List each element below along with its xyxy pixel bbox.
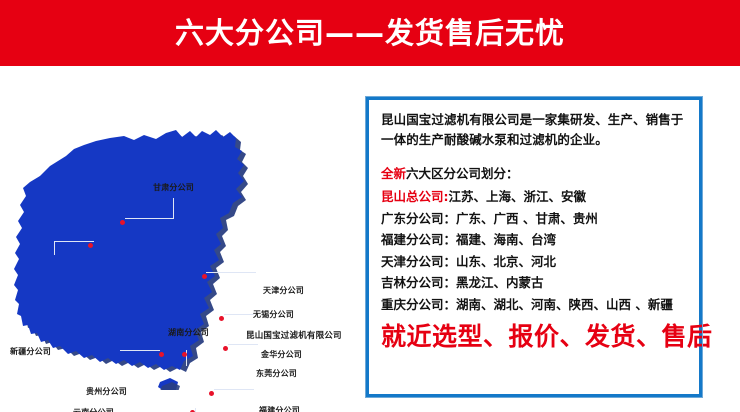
leader-line xyxy=(125,218,173,219)
branch-name: 广东分公司： xyxy=(381,211,456,226)
leader-line xyxy=(54,241,55,255)
map-label-8: 新疆分公司 xyxy=(10,348,51,356)
map-marker-dot xyxy=(88,243,93,248)
leader-line xyxy=(224,314,254,315)
map-marker-dot xyxy=(209,391,214,396)
branch-regions: 江苏、上海、浙江、安徽 xyxy=(449,189,587,204)
branch-regions: 湖南、湖北、河南、陕西、山西 、新疆 xyxy=(456,297,673,312)
section-heading-highlight: 全新 xyxy=(381,166,406,181)
banner-title: 六大分公司——发货售后无忧 xyxy=(175,19,565,48)
branch-row: 吉林分公司：黑龙江、内蒙古 xyxy=(381,272,687,294)
leader-line xyxy=(120,350,160,351)
company-intro-text: 昆山国宝过滤机有限公司是一家集研发、生产、销售于一体的生产耐酸碱水泵和过滤机的企… xyxy=(381,110,687,151)
map-label-5: 东莞分公司 xyxy=(256,370,297,378)
branch-name: 吉林分公司： xyxy=(381,275,456,290)
branch-name: 天津分公司： xyxy=(381,254,456,269)
branch-list: 昆山总公司:江苏、上海、浙江、安徽广东分公司：广东、广西 、甘肃、贵州福建分公司… xyxy=(381,186,687,315)
branch-name: 重庆分公司： xyxy=(381,297,456,312)
leader-line xyxy=(54,241,94,242)
branch-row: 重庆分公司：湖南、湖北、河南、陕西、山西 、新疆 xyxy=(381,294,687,316)
map-marker-dot xyxy=(202,274,207,279)
map-label-2: 无锡分公司 xyxy=(253,311,294,319)
map-marker-dot xyxy=(182,352,187,357)
branch-row: 广东分公司：广东、广西 、甘肃、贵州 xyxy=(381,208,687,230)
section-heading-rest: 六大区分公司划分： xyxy=(406,166,519,181)
china-map-graphic xyxy=(10,120,360,390)
map-label-9: 贵州分公司 xyxy=(86,388,127,396)
branch-name: 昆山总公司: xyxy=(381,189,449,204)
branch-row: 昆山总公司:江苏、上海、浙江、安徽 xyxy=(381,186,687,208)
promo-page: 六大分公司——发货售后无忧 xyxy=(0,0,740,412)
branch-row: 福建分公司：福建、海南、台湾 xyxy=(381,229,687,251)
branch-regions: 山东、北京、河北 xyxy=(456,254,556,269)
leader-line xyxy=(195,408,196,412)
company-info-box: 昆山国宝过滤机有限公司是一家集研发、生产、销售于一体的生产耐酸碱水泵和过滤机的企… xyxy=(366,97,702,397)
china-map-panel: 甘肃分公司天津分公司无锡分公司昆山国宝过滤机有限公司金华分公司东莞分公司福建分公… xyxy=(10,120,360,390)
branch-name: 福建分公司： xyxy=(381,232,456,247)
map-marker-dot xyxy=(159,352,164,357)
header-banner: 六大分公司——发货售后无忧 xyxy=(0,0,740,66)
map-label-7: 湖南分公司 xyxy=(168,329,209,337)
map-marker-dot xyxy=(223,346,228,351)
slogan-text: 就近选型、报价、发货、售后 xyxy=(381,324,687,350)
map-marker-dot xyxy=(120,220,125,225)
leader-line xyxy=(206,272,256,273)
branch-regions: 福建、海南、台湾 xyxy=(456,232,556,247)
map-marker-dot xyxy=(219,316,224,321)
leader-line xyxy=(214,389,254,390)
map-label-4: 金华分公司 xyxy=(261,351,302,359)
leader-line xyxy=(228,344,258,345)
section-heading: 全新六大区分公司划分： xyxy=(381,165,687,184)
map-label-6: 福建分公司 xyxy=(259,407,300,412)
map-label-1: 天津分公司 xyxy=(263,287,304,295)
map-label-3: 昆山国宝过滤机有限公司 xyxy=(246,332,342,341)
branch-row: 天津分公司：山东、北京、河北 xyxy=(381,251,687,273)
map-label-0: 甘肃分公司 xyxy=(153,184,194,192)
leader-line xyxy=(173,198,174,219)
branch-regions: 黑龙江、内蒙古 xyxy=(456,275,544,290)
branch-regions: 广东、广西 、甘肃、贵州 xyxy=(456,211,598,226)
